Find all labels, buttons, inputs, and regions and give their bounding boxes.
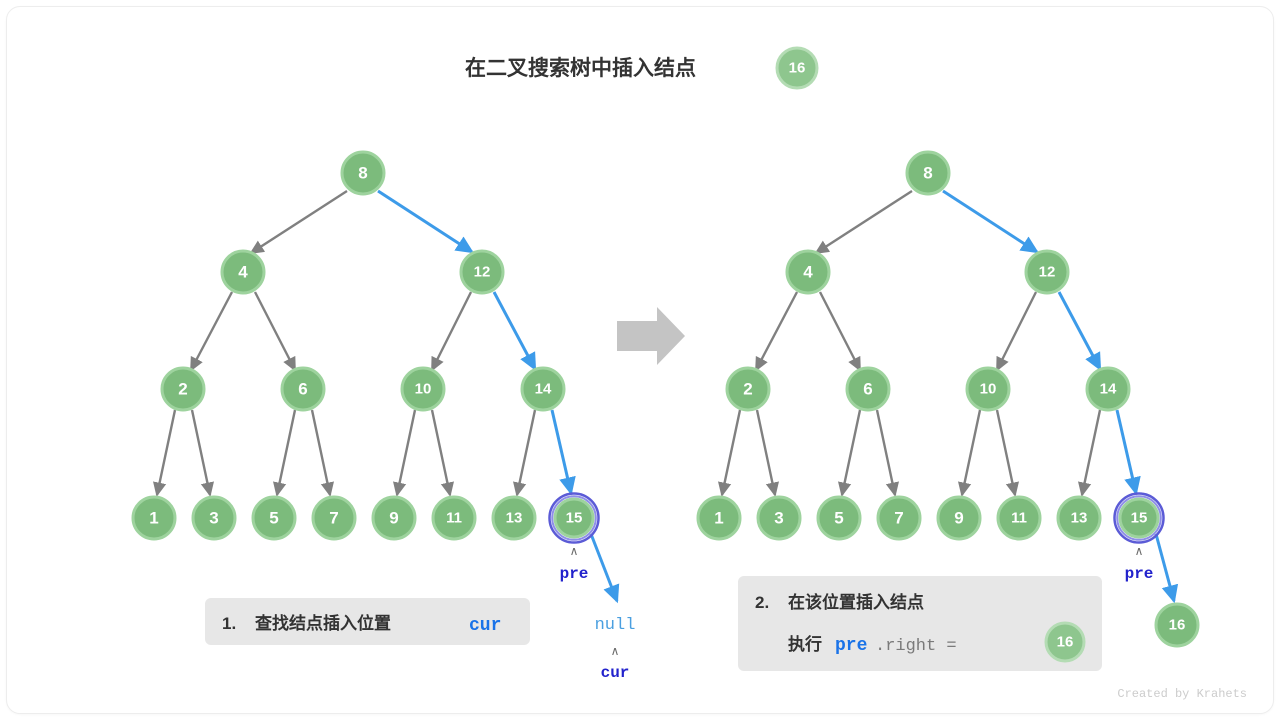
node-10-before: 10: [402, 368, 444, 410]
edge-12-to-14: [494, 292, 535, 369]
node-label: 15: [566, 510, 583, 527]
node-12-before: 12: [461, 251, 503, 293]
caption-2-step: 2.: [755, 593, 769, 612]
node-16-inserted: 16: [1156, 604, 1198, 646]
pre-pointer-label: pre: [560, 565, 589, 583]
node-15-before-highlighted: 15: [550, 494, 599, 543]
node-9-after: 9: [938, 497, 980, 539]
edge-6-to-7: [877, 410, 895, 495]
null-label: null: [595, 616, 636, 635]
edge-10-to-9: [397, 410, 415, 495]
node-3-before: 3: [193, 497, 235, 539]
edge-15-to-null: [591, 534, 617, 601]
node-7-after: 7: [878, 497, 920, 539]
edge-2-to-1: [157, 410, 175, 495]
pre-pointer-before: ∧ pre: [560, 544, 589, 583]
node-2-before: 2: [162, 368, 204, 410]
node-label: 10: [415, 381, 432, 398]
caret-icon: ∧: [570, 544, 579, 558]
node-label: 2: [178, 380, 187, 399]
node-13-after: 13: [1058, 497, 1100, 539]
node-label: 15: [1131, 510, 1148, 527]
caption-2-badge-label: 16: [1057, 634, 1074, 651]
node-5-before: 5: [253, 497, 295, 539]
node-8-before: 8: [342, 152, 384, 194]
caption-2-line2-prefix: 执行: [788, 634, 822, 654]
caption-1-text: 查找结点插入位置: [254, 613, 391, 633]
node-13-before: 13: [493, 497, 535, 539]
node-label: 14: [1100, 381, 1117, 398]
edge-10-to-11: [432, 410, 450, 495]
edge-15-to-16: [1156, 534, 1174, 601]
page-title-text: 在二叉搜索树中插入结点: [465, 56, 696, 80]
edge-10-to-11: [997, 410, 1015, 495]
node-label: 6: [863, 380, 872, 399]
node-label: 8: [358, 164, 367, 183]
caption-2-code-rest: .right =: [875, 637, 957, 656]
diagram-canvas: 在二叉搜索树中插入结点 16: [7, 7, 1274, 714]
node-12-after: 12: [1026, 251, 1068, 293]
node-label: 13: [506, 510, 523, 527]
edge-12-to-10: [997, 292, 1036, 370]
node-11-after: 11: [998, 497, 1040, 539]
edge-10-to-9: [962, 410, 980, 495]
edge-12-to-10: [432, 292, 471, 370]
edge-2-to-3: [757, 410, 775, 495]
caption-2-badge-node: 16: [1046, 623, 1084, 661]
null-target-before: null ∧ cur: [595, 616, 636, 682]
cur-pointer-label: cur: [601, 664, 630, 682]
node-7-before: 7: [313, 497, 355, 539]
caret-icon: ∧: [611, 644, 620, 658]
node-4-before: 4: [222, 251, 264, 293]
caption-1-code: cur: [469, 616, 501, 636]
tree-after: 8 4 12 2 6 10: [698, 152, 1198, 646]
edge-6-to-5: [277, 410, 295, 495]
node-label: 5: [269, 509, 278, 528]
edge-8-to-12: [943, 191, 1037, 252]
caption-step-2: 2. 在该位置插入结点 执行 pre .right = 16: [738, 576, 1102, 671]
node-label: 6: [298, 380, 307, 399]
edge-4-to-6: [255, 292, 295, 370]
pre-pointer-after: ∧ pre: [1125, 544, 1154, 583]
edge-2-to-3: [192, 410, 210, 495]
node-label: 10: [980, 381, 997, 398]
edge-4-to-6: [820, 292, 860, 370]
node-label: 1: [714, 509, 723, 528]
page-title: 在二叉搜索树中插入结点 16: [465, 48, 817, 88]
node-label: 5: [834, 509, 843, 528]
edge-4-to-2: [756, 292, 797, 370]
edge-8-to-4: [816, 191, 912, 253]
edge-14-to-13: [1082, 410, 1100, 495]
edge-14-to-15: [552, 410, 571, 493]
pre-pointer-label: pre: [1125, 565, 1154, 583]
edge-12-to-14: [1059, 292, 1100, 369]
caption-step-1: 1. 查找结点插入位置 cur: [205, 598, 530, 645]
node-15-after-highlighted: 15: [1115, 494, 1164, 543]
node-label: 3: [774, 509, 783, 528]
caption-2-text: 在该位置插入结点: [788, 592, 924, 612]
node-label: 4: [238, 263, 248, 282]
transition-arrow-icon: [617, 307, 685, 365]
node-8-after: 8: [907, 152, 949, 194]
node-label: 1: [149, 509, 158, 528]
node-label: 7: [894, 509, 903, 528]
node-label: 8: [923, 164, 932, 183]
node-2-after: 2: [727, 368, 769, 410]
node-6-before: 6: [282, 368, 324, 410]
node-label: 16: [1169, 617, 1186, 634]
node-1-after: 1: [698, 497, 740, 539]
edge-2-to-1: [722, 410, 740, 495]
node-5-after: 5: [818, 497, 860, 539]
edge-8-to-12: [378, 191, 472, 252]
node-label: 13: [1071, 510, 1088, 527]
node-label: 11: [446, 510, 462, 527]
caption-2-code-pre: pre: [835, 636, 867, 656]
node-14-before: 14: [522, 368, 564, 410]
node-label: 9: [954, 509, 963, 528]
title-badge-node: 16: [777, 48, 817, 88]
node-14-after: 14: [1087, 368, 1129, 410]
node-label: 7: [329, 509, 338, 528]
node-label: 4: [803, 263, 813, 282]
node-label: 12: [474, 264, 491, 281]
node-1-before: 1: [133, 497, 175, 539]
node-label: 9: [389, 509, 398, 528]
edge-4-to-2: [191, 292, 232, 370]
node-3-after: 3: [758, 497, 800, 539]
node-10-after: 10: [967, 368, 1009, 410]
edge-14-to-15: [1117, 410, 1136, 493]
node-label: 14: [535, 381, 552, 398]
edge-6-to-5: [842, 410, 860, 495]
edge-6-to-7: [312, 410, 330, 495]
diagram-card: 在二叉搜索树中插入结点 16: [6, 6, 1274, 714]
footer-credit: Created by Krahets: [1117, 687, 1247, 701]
edge-14-to-13: [517, 410, 535, 495]
node-label: 11: [1011, 510, 1027, 527]
caption-1-step: 1.: [222, 614, 236, 633]
node-4-after: 4: [787, 251, 829, 293]
edge-8-to-4: [251, 191, 347, 253]
node-label: 3: [209, 509, 218, 528]
caret-icon: ∧: [1135, 544, 1144, 558]
node-9-before: 9: [373, 497, 415, 539]
title-badge-label: 16: [789, 60, 806, 77]
node-6-after: 6: [847, 368, 889, 410]
node-label: 2: [743, 380, 752, 399]
node-label: 12: [1039, 264, 1056, 281]
node-11-before: 11: [433, 497, 475, 539]
